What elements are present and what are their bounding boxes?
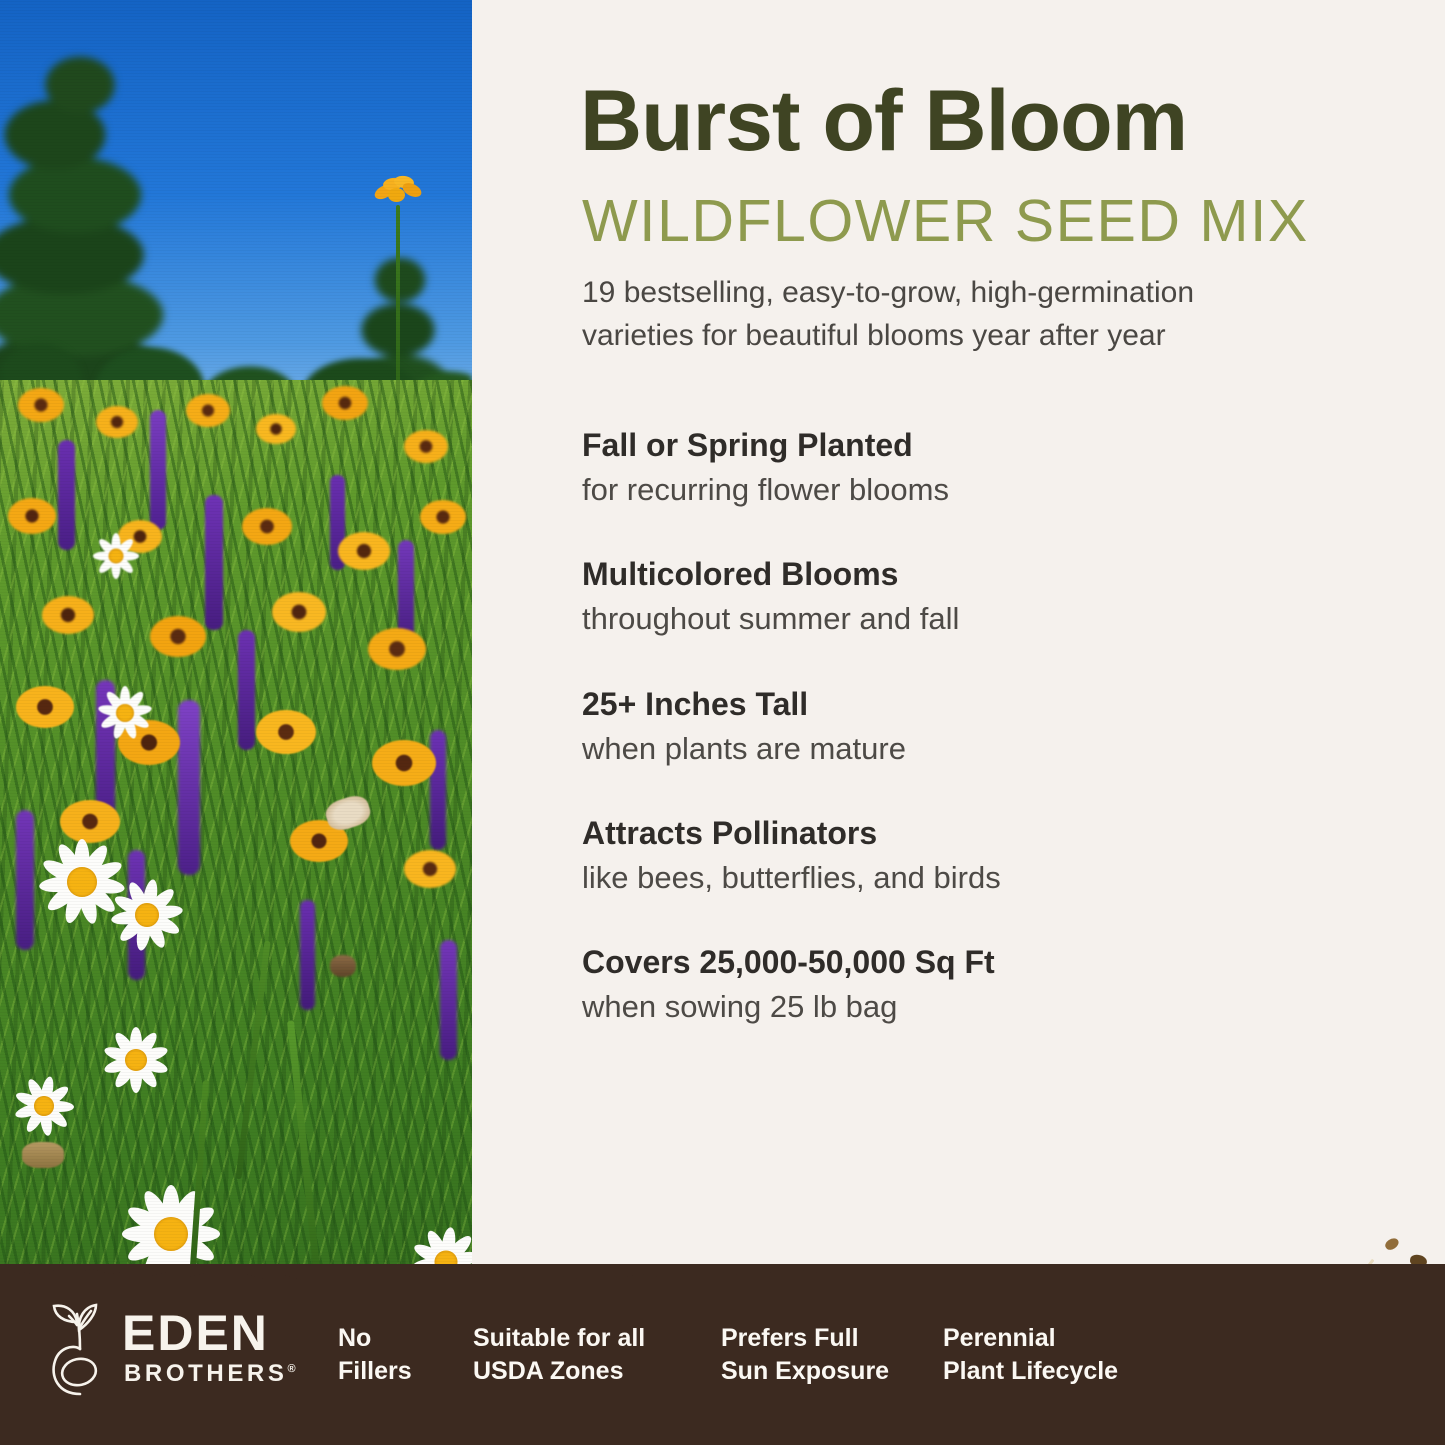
content-panel: Burst of Bloom WILDFLOWER SEED MIX 19 be…: [472, 0, 1445, 1295]
feature-subtext: for recurring flower blooms: [582, 470, 1362, 510]
badge-line-2: USDA Zones: [473, 1355, 645, 1388]
brand-name-primary: EDEN: [122, 1308, 269, 1358]
registered-trademark-icon: ®: [287, 1363, 295, 1375]
badge-line-1: Perennial: [943, 1322, 1118, 1355]
feature-item: Multicolored Blooms throughout summer an…: [582, 554, 1362, 639]
feature-subtext: when plants are mature: [582, 729, 1362, 769]
feature-item: 25+ Inches Tall when plants are mature: [582, 684, 1362, 769]
brand-name-secondary: BROTHERS®: [124, 1362, 296, 1386]
feature-heading: Multicolored Blooms: [582, 554, 1362, 594]
sprouting-seed-icon: [46, 1302, 116, 1403]
feature-subtext: when sowing 25 lb bag: [582, 987, 1362, 1027]
badge-line-1: No: [338, 1322, 412, 1355]
footer-bar: EDEN BROTHERS® No Fillers Suitable for a…: [0, 1280, 1445, 1445]
product-description: 19 bestselling, easy-to-grow, high-germi…: [582, 272, 1342, 357]
feature-item: Covers 25,000-50,000 Sq Ft when sowing 2…: [582, 942, 1362, 1027]
page-subtitle: WILDFLOWER SEED MIX: [582, 192, 1432, 251]
feature-item: Fall or Spring Planted for recurring flo…: [582, 425, 1362, 510]
description-line-1: 19 bestselling, easy-to-grow, high-germi…: [582, 272, 1342, 315]
torn-soil-edge: [0, 1264, 1445, 1286]
feature-subtext: like bees, butterflies, and birds: [582, 858, 1362, 898]
description-line-2: varieties for beautiful blooms year afte…: [582, 315, 1342, 358]
feature-item: Attracts Pollinators like bees, butterfl…: [582, 813, 1362, 898]
feature-heading: Fall or Spring Planted: [582, 425, 1362, 465]
eden-brothers-logo[interactable]: EDEN BROTHERS®: [46, 1300, 286, 1410]
feature-heading: Attracts Pollinators: [582, 813, 1362, 853]
footer-badge-lifecycle: Perennial Plant Lifecycle: [943, 1322, 1118, 1388]
feature-subtext: throughout summer and fall: [582, 599, 1362, 639]
badge-line-1: Prefers Full: [721, 1322, 889, 1355]
feature-list: Fall or Spring Planted for recurring flo…: [582, 425, 1362, 1071]
footer-badge-no-fillers: No Fillers: [338, 1322, 412, 1388]
badge-line-2: Plant Lifecycle: [943, 1355, 1118, 1388]
badge-line-2: Sun Exposure: [721, 1355, 889, 1388]
badge-line-2: Fillers: [338, 1355, 412, 1388]
feature-heading: Covers 25,000-50,000 Sq Ft: [582, 942, 1362, 982]
photo-grain: [0, 0, 472, 1295]
meadow-photo: [0, 0, 472, 1295]
page-title: Burst of Bloom: [580, 78, 1420, 164]
product-feature-card: Burst of Bloom WILDFLOWER SEED MIX 19 be…: [0, 0, 1445, 1445]
feature-heading: 25+ Inches Tall: [582, 684, 1362, 724]
footer-badge-usda-zones: Suitable for all USDA Zones: [473, 1322, 645, 1388]
footer-badge-sun-exposure: Prefers Full Sun Exposure: [721, 1322, 889, 1388]
badge-line-1: Suitable for all: [473, 1322, 645, 1355]
brand-bottom-text: BROTHERS: [124, 1360, 287, 1387]
